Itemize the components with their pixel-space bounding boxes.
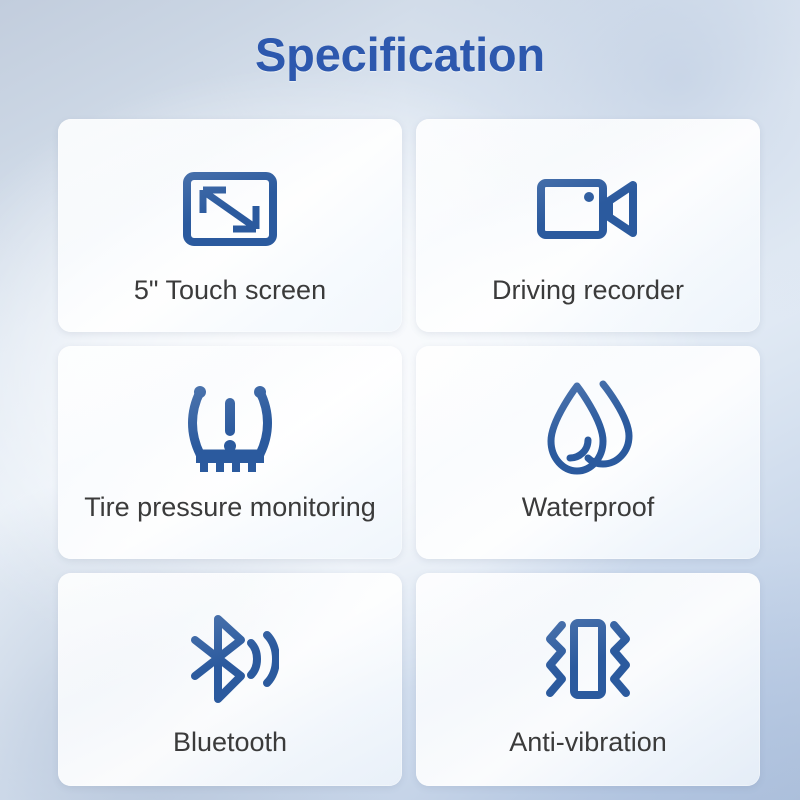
spec-card-anti-vibration[interactable]: Anti-vibration bbox=[416, 573, 760, 786]
specification-grid: 5" Touch screen Driving recorder bbox=[58, 119, 742, 786]
spec-card-bluetooth[interactable]: Bluetooth bbox=[58, 573, 402, 786]
tire-pressure-warning-icon bbox=[178, 382, 282, 474]
spec-card-label: Anti-vibration bbox=[509, 727, 667, 758]
spec-card-driving-recorder[interactable]: Driving recorder bbox=[416, 119, 760, 332]
video-camera-icon bbox=[536, 163, 640, 255]
bluetooth-icon bbox=[181, 613, 279, 705]
anti-vibration-icon bbox=[536, 613, 640, 705]
water-droplets-icon bbox=[541, 382, 635, 474]
page-title: Specification bbox=[0, 27, 800, 82]
spec-card-label: 5" Touch screen bbox=[134, 275, 326, 306]
spec-card-waterproof[interactable]: Waterproof bbox=[416, 346, 760, 559]
screen-diagonal-icon bbox=[182, 163, 278, 255]
spec-card-label: Driving recorder bbox=[492, 275, 684, 306]
specification-page: Specification 5" Touch screen bbox=[0, 0, 800, 800]
spec-card-label: Tire pressure monitoring bbox=[84, 492, 376, 523]
spec-card-label: Bluetooth bbox=[173, 727, 287, 758]
spec-card-tire-pressure[interactable]: Tire pressure monitoring bbox=[58, 346, 402, 559]
spec-card-label: Waterproof bbox=[522, 492, 655, 523]
spec-card-touch-screen[interactable]: 5" Touch screen bbox=[58, 119, 402, 332]
